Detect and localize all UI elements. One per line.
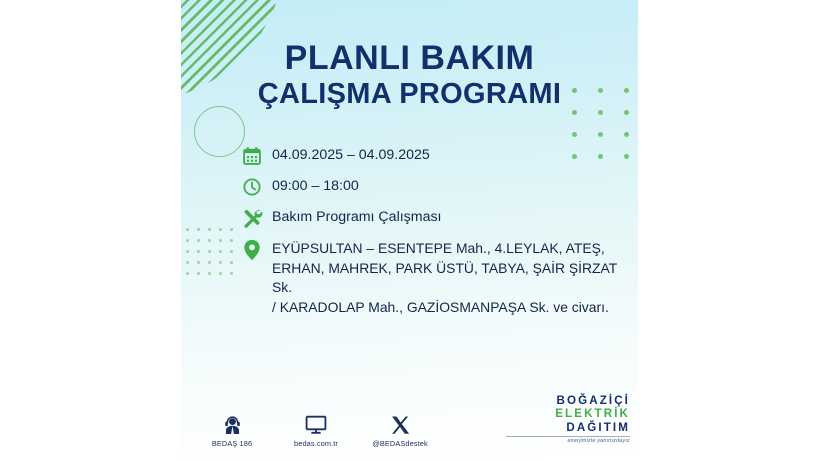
address-line-2: ERHAN, MAHREK, PARK ÜSTÜ, TABYA, ŞAİR Şİ… <box>272 259 632 298</box>
info-row-date: 04.09.2025 – 04.09.2025 <box>242 145 632 167</box>
address-value: EYÜPSULTAN – ESENTEPE Mah., 4.LEYLAK, AT… <box>272 238 632 318</box>
contact-social-label: @BEDASdestek <box>369 439 431 448</box>
call-center-agent-icon <box>201 409 263 435</box>
x-twitter-icon <box>369 409 431 435</box>
clock-icon <box>242 176 272 198</box>
contact-phone[interactable]: BEDAŞ 186 <box>201 409 263 448</box>
dot-grid-left-decoration <box>186 228 241 283</box>
address-line-1: EYÜPSULTAN – ESENTEPE Mah., 4.LEYLAK, AT… <box>272 239 632 259</box>
bedas-logo: BOĞAZİÇİ ELEKTRİK DAĞITIM enerjimizle ya… <box>506 394 630 444</box>
contact-website[interactable]: bedas.com.tr <box>285 409 347 448</box>
logo-tagline: enerjimizle yanınızdayız <box>506 438 630 444</box>
poster-heading: PLANLI BAKIM ÇALIŞMA PROGRAMI <box>181 41 638 110</box>
info-row-time: 09:00 – 18:00 <box>242 176 632 198</box>
contact-phone-label: BEDAŞ 186 <box>201 439 263 448</box>
info-row-worktype: Bakım Programı Çalışması <box>242 207 632 229</box>
logo-line-3: DAĞITIM <box>506 421 630 434</box>
logo-divider <box>506 436 630 437</box>
contact-social[interactable]: @BEDASdestek <box>369 409 431 448</box>
info-list: 04.09.2025 – 04.09.2025 09:00 – 18:00 <box>242 145 632 318</box>
calendar-icon <box>242 145 272 167</box>
location-pin-icon <box>242 238 272 262</box>
address-line-3: / KARADOLAP Mah., GAZİOSMANPAŞA Sk. ve c… <box>272 298 632 318</box>
announcement-poster: PLANLI BAKIM ÇALIŞMA PROGRAMI <box>181 0 638 461</box>
time-range-value: 09:00 – 18:00 <box>272 176 359 197</box>
contact-list: BEDAŞ 186 bedas.com.tr <box>201 409 431 448</box>
screenshot-canvas: PLANLI BAKIM ÇALIŞMA PROGRAMI <box>0 0 820 461</box>
tools-icon <box>242 207 272 229</box>
page-subtitle: ÇALIŞMA PROGRAMI <box>181 78 638 110</box>
contact-website-label: bedas.com.tr <box>285 439 347 448</box>
logo-line-2: ELEKTRİK <box>506 407 630 420</box>
page-title: PLANLI BAKIM <box>181 41 638 76</box>
poster-footer: BEDAŞ 186 bedas.com.tr <box>181 394 638 450</box>
date-range-value: 04.09.2025 – 04.09.2025 <box>272 145 430 166</box>
circle-outline-decoration <box>194 106 245 157</box>
logo-line-1: BOĞAZİÇİ <box>506 394 630 407</box>
monitor-icon <box>285 409 347 435</box>
work-type-value: Bakım Programı Çalışması <box>272 207 442 228</box>
info-row-address: EYÜPSULTAN – ESENTEPE Mah., 4.LEYLAK, AT… <box>242 238 632 318</box>
